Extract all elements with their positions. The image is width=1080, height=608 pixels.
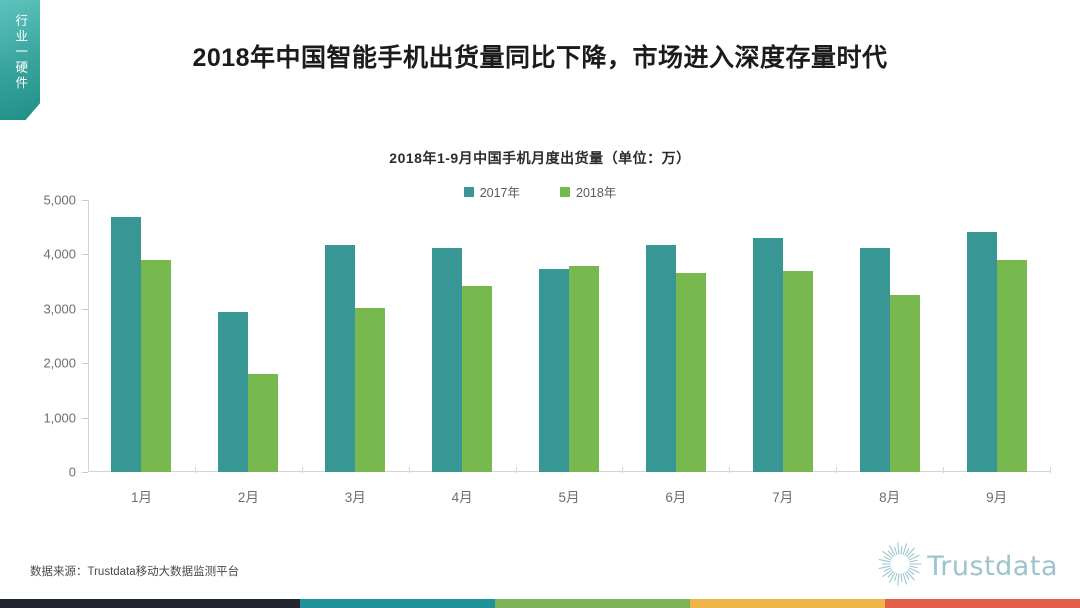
x-tick-label: 6月	[622, 486, 729, 506]
bar-2017年-6月[interactable]	[646, 245, 676, 472]
chart-title: 2018年1-9月中国手机月度出货量（单位：万）	[0, 148, 1080, 168]
bar-2017年-3月[interactable]	[325, 245, 355, 472]
sunburst-icon	[877, 541, 923, 592]
bottom-bar-segment	[300, 599, 495, 608]
x-tick-label: 7月	[729, 486, 836, 506]
plot-area: 01,0002,0003,0004,0005,000 1月2月3月4月5月6月7…	[0, 186, 1080, 520]
bar-group	[622, 200, 729, 472]
x-tick-label: 3月	[302, 486, 409, 506]
y-tick-mark	[82, 472, 88, 473]
bar-group	[302, 200, 409, 472]
x-axis-labels: 1月2月3月4月5月6月7月8月9月	[88, 486, 1050, 506]
bar-2018年-1月[interactable]	[141, 260, 171, 472]
x-tick-label: 1月	[88, 486, 195, 506]
bar-groups	[88, 200, 1050, 472]
bar-2017年-4月[interactable]	[432, 248, 462, 472]
bottom-color-bar	[0, 599, 1080, 608]
bar-group	[195, 200, 302, 472]
bottom-bar-segment	[495, 599, 690, 608]
bar-2018年-6月[interactable]	[676, 273, 706, 472]
bar-2017年-5月[interactable]	[539, 269, 569, 472]
brand-name: Trustdata	[927, 551, 1058, 582]
bar-group	[836, 200, 943, 472]
x-tick-mark	[1050, 467, 1051, 473]
bottom-bar-segment	[885, 599, 1080, 608]
x-tick-label: 9月	[943, 486, 1050, 506]
bar-2017年-8月[interactable]	[860, 248, 890, 472]
bar-2018年-7月[interactable]	[783, 271, 813, 472]
bar-2018年-4月[interactable]	[462, 286, 492, 472]
chart-container: 2018年1-9月中国手机月度出货量（单位：万） 2017年 2018年 01,…	[0, 140, 1080, 520]
page-title: 2018年中国智能手机出货量同比下降，市场进入深度存量时代	[0, 38, 1080, 74]
bottom-bar-segment	[0, 599, 300, 608]
bar-2018年-5月[interactable]	[569, 266, 599, 472]
bar-2018年-2月[interactable]	[248, 374, 278, 472]
bar-group	[88, 200, 195, 472]
bar-2018年-9月[interactable]	[997, 260, 1027, 472]
x-tick-label: 4月	[409, 486, 516, 506]
bar-2017年-1月[interactable]	[111, 217, 141, 472]
x-tick-label: 2月	[195, 486, 302, 506]
bar-group	[409, 200, 516, 472]
bar-group	[943, 200, 1050, 472]
source-note: 数据来源：Trustdata移动大数据监测平台	[30, 563, 239, 579]
bar-2017年-7月[interactable]	[753, 238, 783, 472]
x-tick-label: 5月	[516, 486, 623, 506]
bar-2017年-9月[interactable]	[967, 232, 997, 472]
bar-2018年-8月[interactable]	[890, 295, 920, 472]
x-tick-label: 8月	[836, 486, 943, 506]
bar-group	[516, 200, 623, 472]
bottom-bar-segment	[690, 599, 885, 608]
bar-2018年-3月[interactable]	[355, 308, 385, 472]
brand-logo: Trustdata	[877, 541, 1058, 592]
bar-2017年-2月[interactable]	[218, 312, 248, 472]
plot-canvas: 01,0002,0003,0004,0005,000	[88, 200, 1050, 472]
bar-group	[729, 200, 836, 472]
